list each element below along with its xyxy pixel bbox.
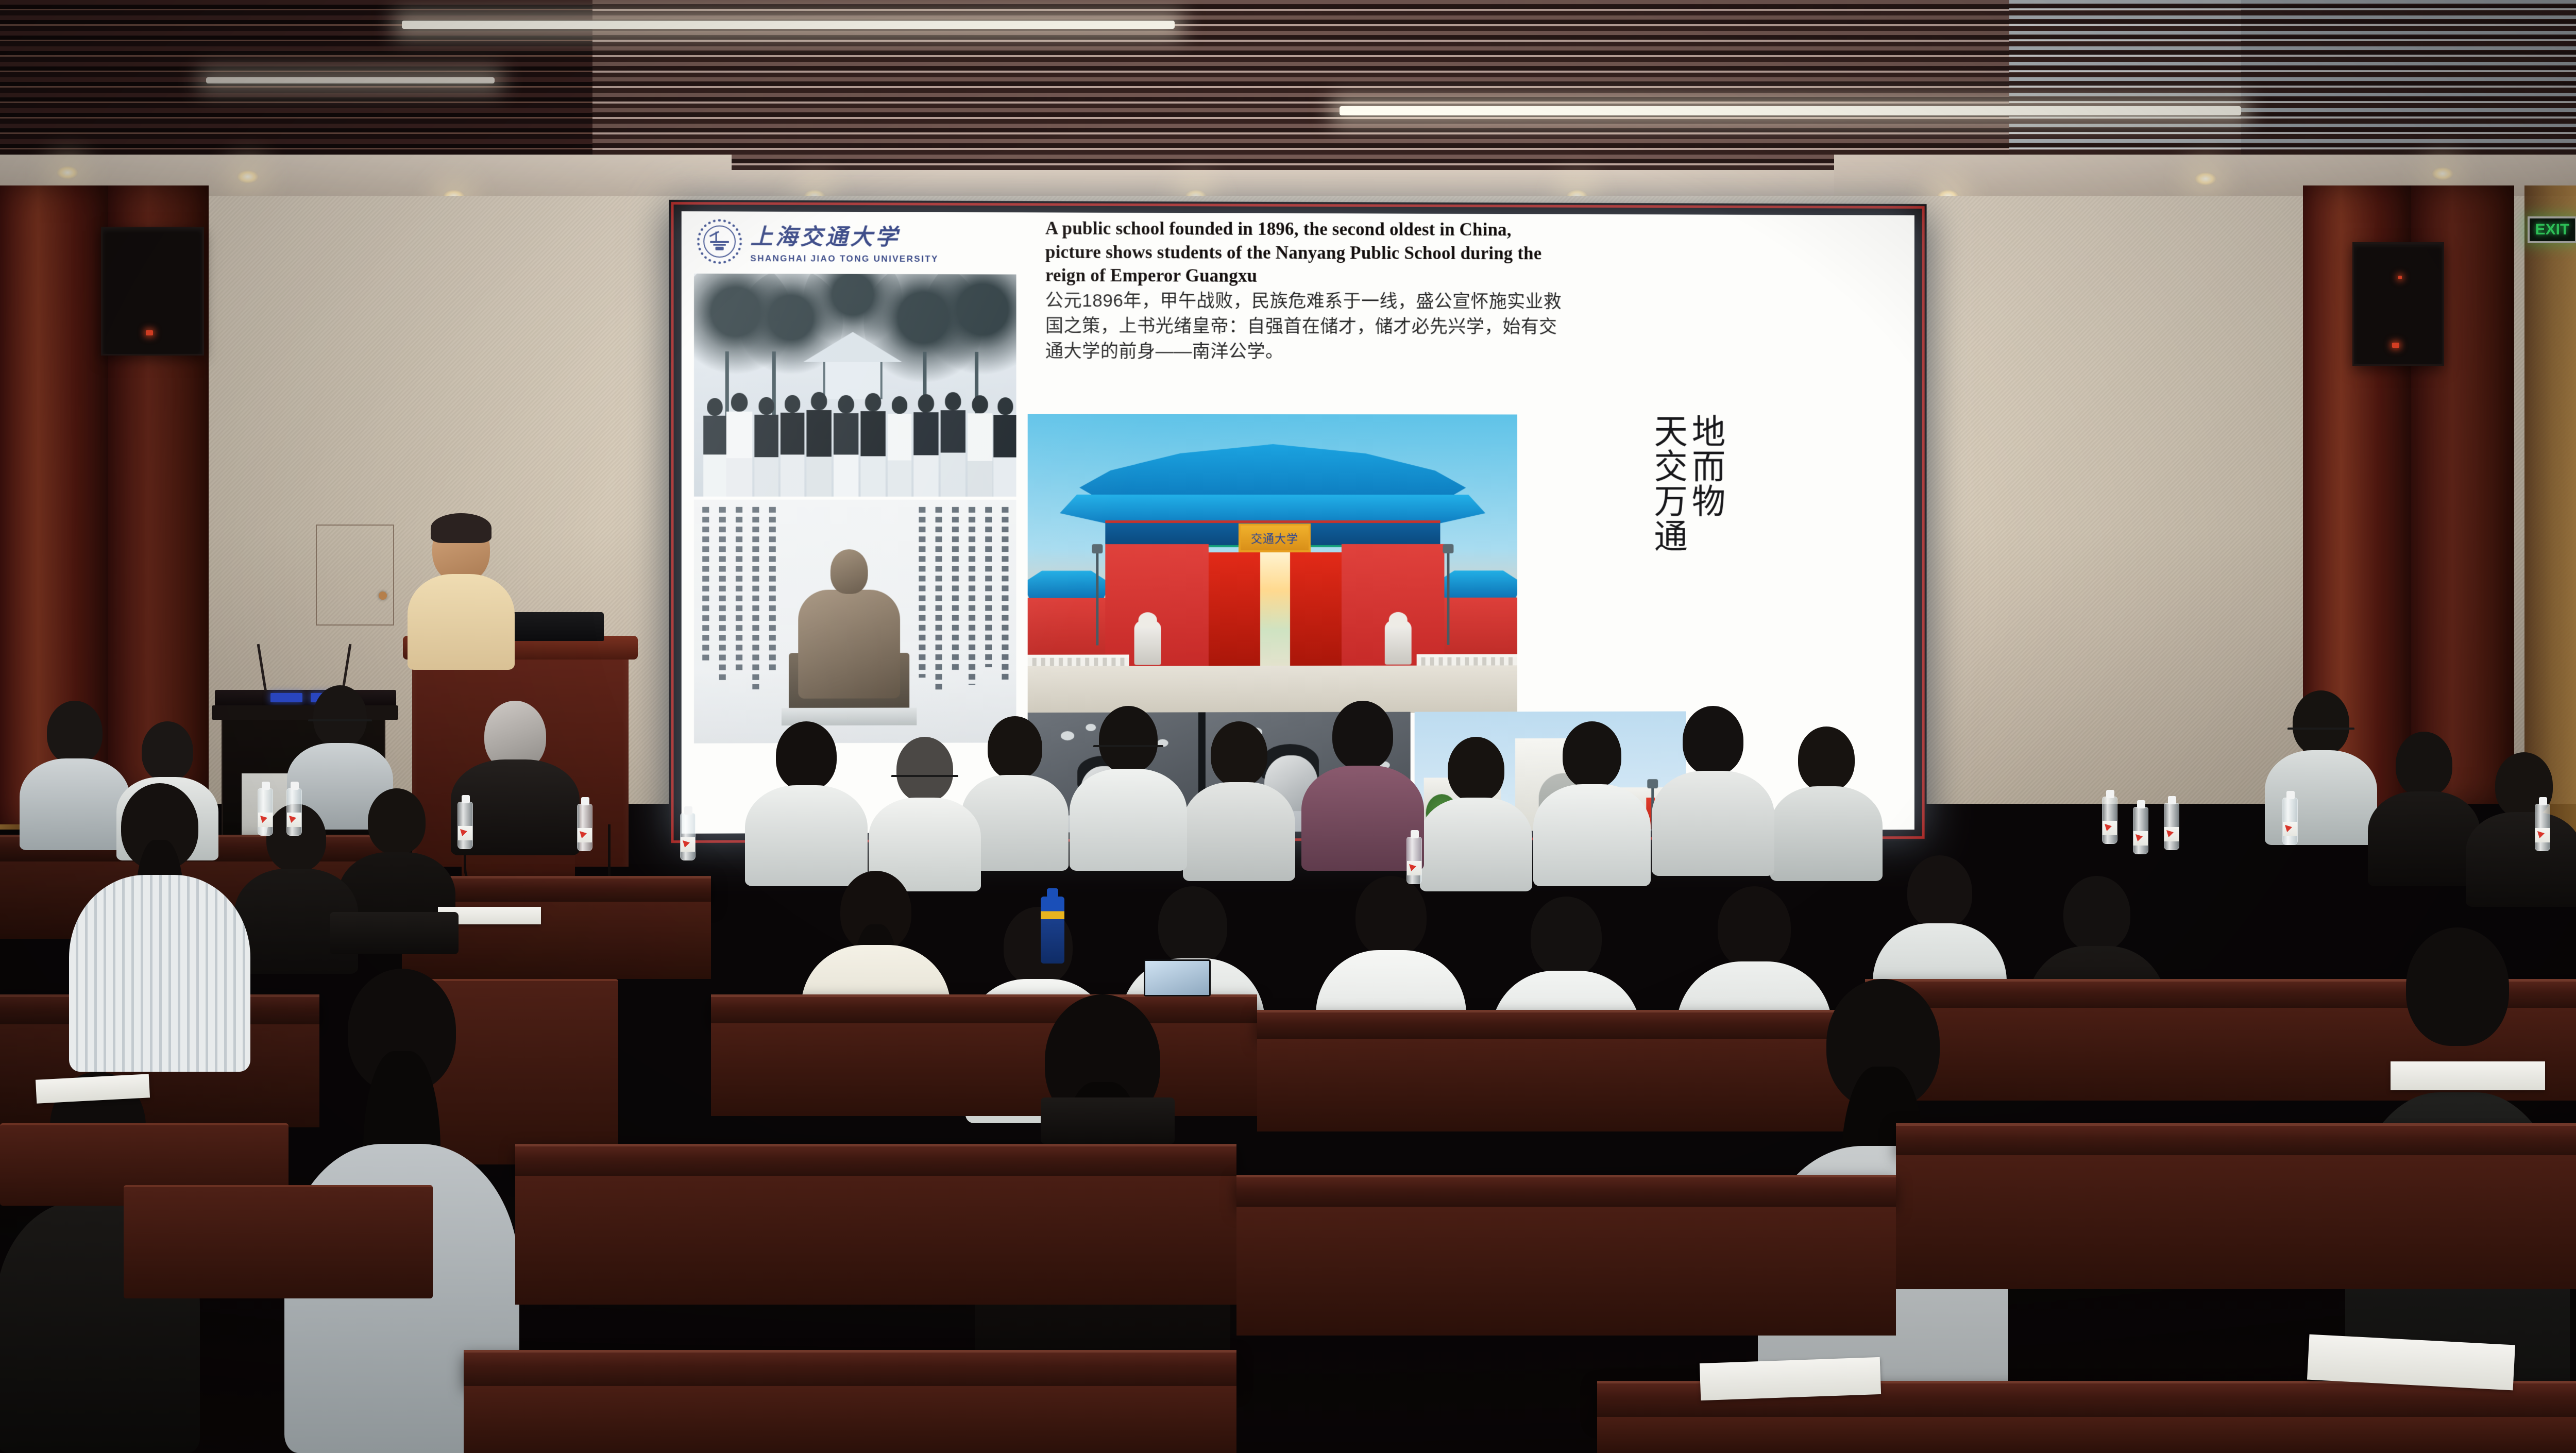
desk-front-panel xyxy=(1597,1417,2576,1453)
couplet-column-right: 天交万通 xyxy=(1650,414,1685,553)
english-line-2: picture shows students of the Nanyang Pu… xyxy=(1045,240,1775,265)
chinese-line-1: 公元1896年，甲午战败，民族危难系于一线，盛公宣怀施实业救 xyxy=(1045,289,1775,314)
water-bottle[interactable] xyxy=(577,804,592,851)
water-bottle[interactable] xyxy=(2133,807,2148,854)
recessed-downlight xyxy=(2195,172,2216,185)
gate-plaque-text: 交通大学 xyxy=(1251,530,1298,546)
university-name-zh: 上海交通大学 xyxy=(750,219,938,251)
water-bottle[interactable] xyxy=(1406,837,1422,884)
xuhui-campus-gate-photo: 交通大学 xyxy=(1028,414,1517,714)
desk-front-panel xyxy=(1896,1155,2576,1289)
presenter xyxy=(407,515,515,670)
sports-water-bottle[interactable] xyxy=(1041,897,1064,964)
water-bottle[interactable] xyxy=(2164,803,2179,850)
water-bottle[interactable] xyxy=(2102,797,2117,844)
bag xyxy=(330,912,459,954)
paper-sheet xyxy=(2391,1061,2545,1090)
vertical-couplet: 天交万通 地而物 xyxy=(1650,414,1902,553)
wood-wall-strip-right xyxy=(2524,185,2576,835)
desk-row xyxy=(515,1144,1236,1176)
english-line-1: A public school founded in 1896, the sec… xyxy=(1045,216,1775,242)
gate-plaque: 交通大学 xyxy=(1239,523,1311,552)
lecture-hall-scene: EXIT 上海交通大学 SHANGHAI JIAO TONG UNIVERSIT… xyxy=(0,0,2576,1453)
desk-front-panel xyxy=(1236,1207,1896,1336)
exit-sign-label: EXIT xyxy=(2535,221,2570,239)
ceiling-fluorescent-strip xyxy=(1340,106,2241,115)
recessed-downlight xyxy=(237,170,259,183)
recessed-downlight xyxy=(57,166,78,179)
chinese-line-2: 国之策，上书光绪皇帝：自强首在储才，储才必先兴学，始有交 xyxy=(1045,314,1775,340)
desk-front-panel xyxy=(515,1176,1236,1305)
audience-member xyxy=(1654,706,1772,876)
audience-member xyxy=(1303,701,1422,871)
wall-speaker-right xyxy=(2352,242,2444,366)
audience-member xyxy=(1072,706,1185,871)
desk-row xyxy=(1896,1123,2576,1155)
wall-speaker-left xyxy=(101,227,204,356)
recessed-downlight xyxy=(2432,167,2453,180)
sjtu-branding: 上海交通大学 SHANGHAI JIAO TONG UNIVERSITY xyxy=(697,218,939,264)
sjtu-seal-icon xyxy=(697,219,742,264)
audience-member xyxy=(1535,721,1649,886)
ceiling-fluorescent-strip xyxy=(402,21,1175,29)
chinese-line-3: 通大学的前身——南洋公学。 xyxy=(1045,340,1775,365)
audience-member xyxy=(1422,737,1530,891)
audience-member xyxy=(72,783,247,1072)
wall-access-panel xyxy=(316,525,394,626)
desk-row xyxy=(1236,1175,1896,1207)
couplet-column-left: 地而物 xyxy=(1687,414,1723,553)
english-line-3: reign of Emperor Guangxu xyxy=(1045,264,1775,289)
audience-member xyxy=(1185,721,1293,881)
audience-member xyxy=(2468,752,2576,907)
ceiling-fluorescent-strip xyxy=(206,77,495,83)
bag xyxy=(1041,1097,1175,1144)
water-bottle[interactable] xyxy=(2282,798,2298,845)
water-bottle[interactable] xyxy=(286,788,302,836)
slide-text-block: A public school founded in 1896, the sec… xyxy=(1045,216,1775,364)
paper-sheet xyxy=(1700,1357,1881,1400)
audience-member xyxy=(1772,727,1880,881)
water-bottle[interactable] xyxy=(680,813,696,860)
bench-seat xyxy=(124,1185,433,1298)
wall-panel-knob xyxy=(379,592,387,600)
desk-front-panel xyxy=(464,1386,1236,1453)
audience-member xyxy=(747,721,866,886)
tablet-device[interactable] xyxy=(1144,959,1211,996)
sheng-xuanhuai-statue-photo xyxy=(694,500,1016,744)
exit-sign: EXIT xyxy=(2528,216,2576,243)
university-name-en: SHANGHAI JIAO TONG UNIVERSITY xyxy=(750,254,938,264)
historic-students-photo xyxy=(694,274,1016,497)
water-bottle[interactable] xyxy=(258,788,273,836)
water-bottle[interactable] xyxy=(2535,804,2550,851)
water-bottle[interactable] xyxy=(457,802,473,849)
desk-row xyxy=(464,1350,1236,1386)
audience-member xyxy=(2370,732,2478,886)
audience-member xyxy=(871,737,979,891)
